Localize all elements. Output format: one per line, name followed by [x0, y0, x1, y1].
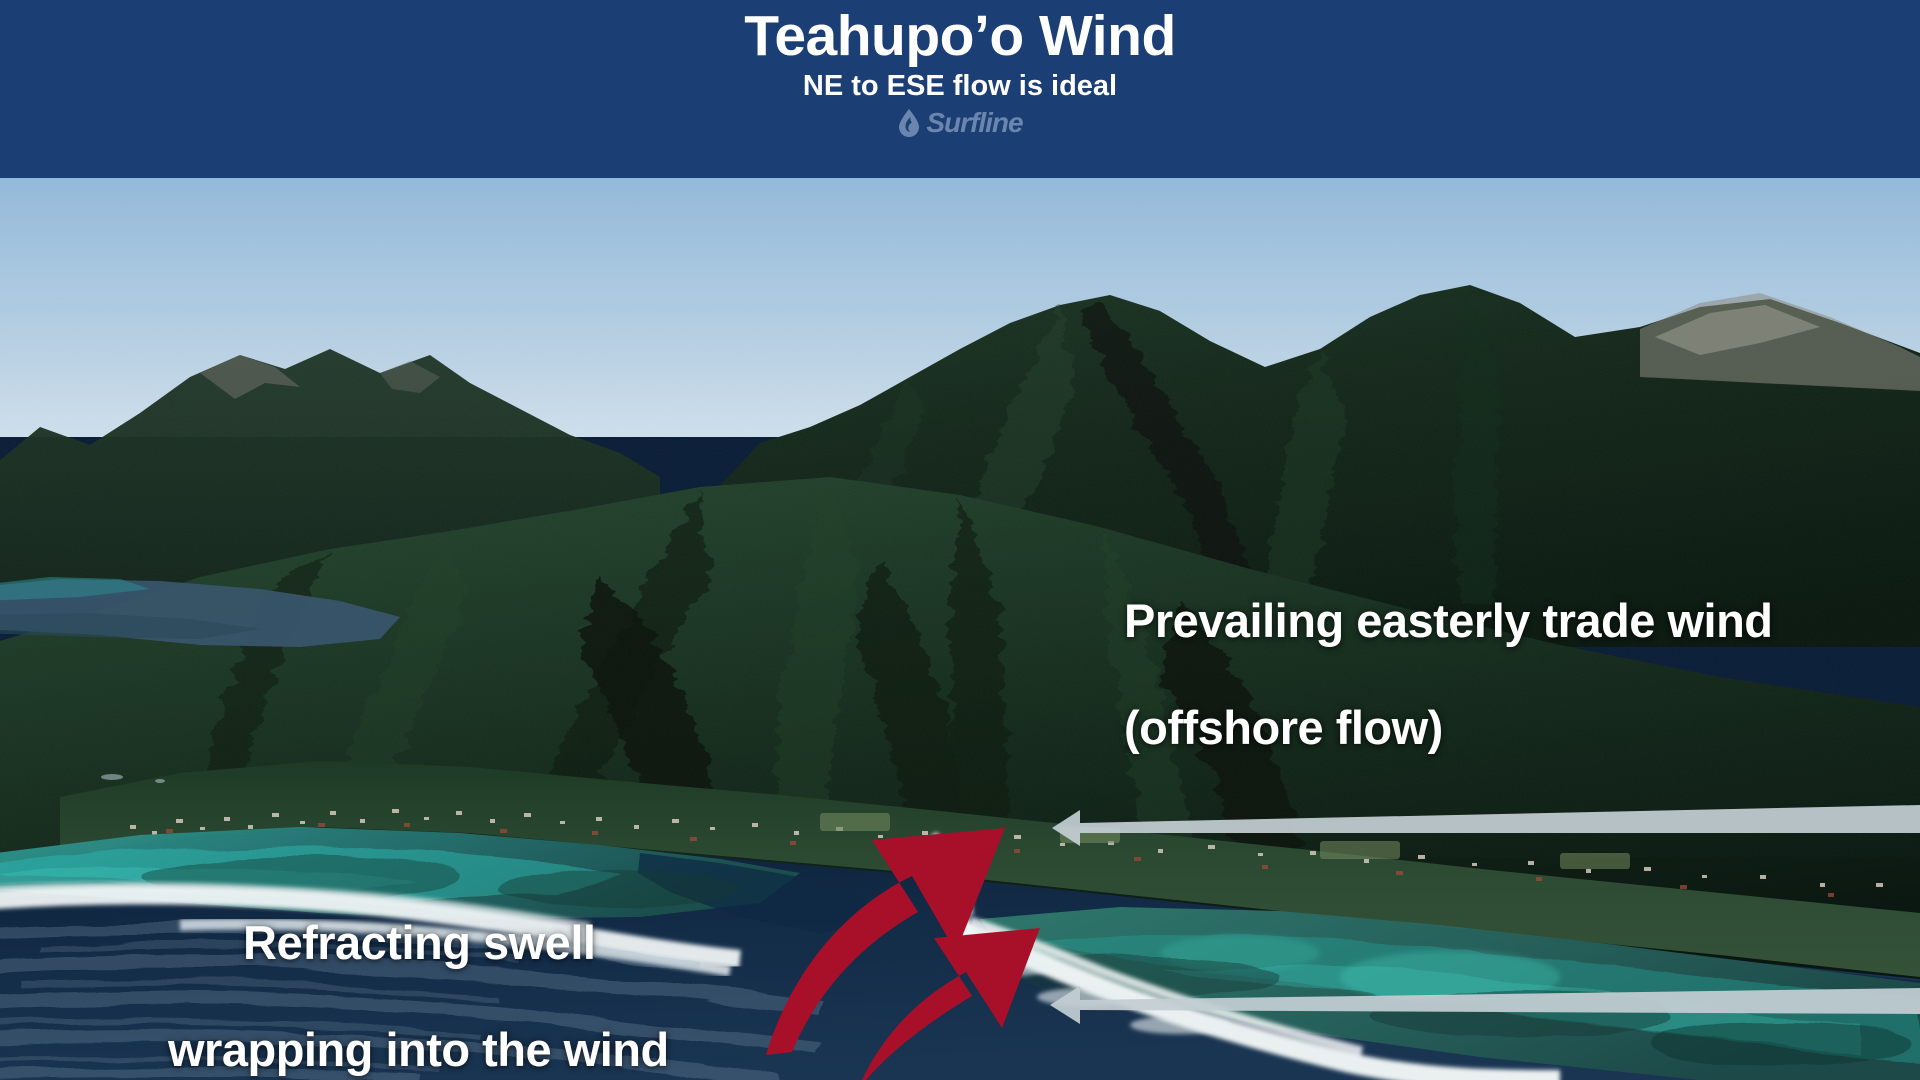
terrain-scene [0, 177, 1920, 1080]
page-subtitle: NE to ESE flow is ideal [803, 70, 1117, 103]
terrain-illustration [0, 177, 1920, 1080]
page-title: Teahupo’o Wind [744, 6, 1176, 68]
water-drop-icon [897, 108, 921, 137]
infographic-root: Teahupo’o Wind NE to ESE flow is ideal S… [0, 0, 1920, 1080]
surfline-logo: Surfline [897, 107, 1022, 139]
header-banner: Teahupo’o Wind NE to ESE flow is ideal S… [0, 0, 1920, 178]
surfline-wordmark: Surfline [926, 107, 1022, 139]
